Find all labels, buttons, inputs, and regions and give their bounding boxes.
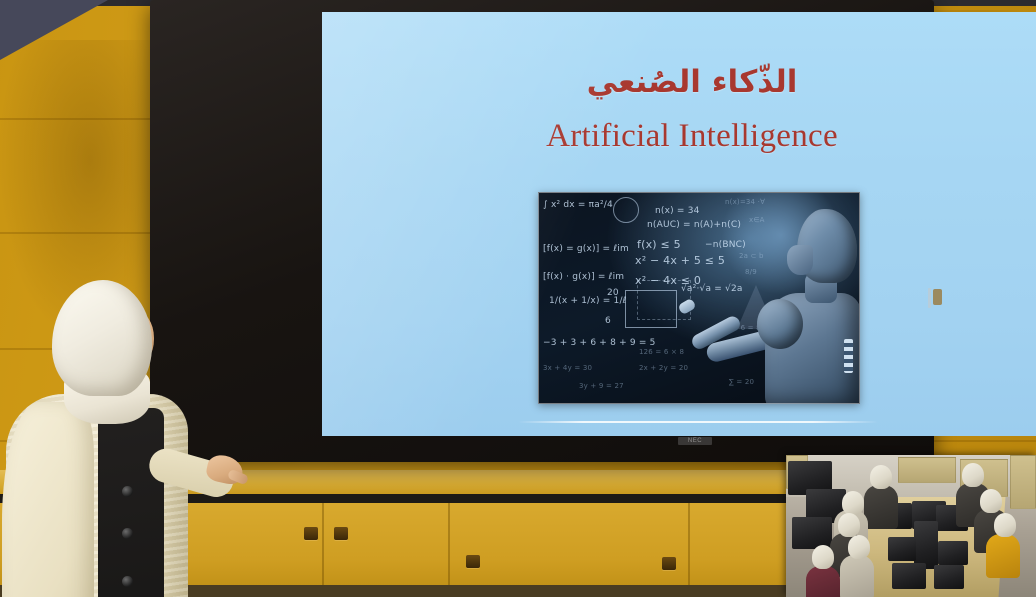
chalk-eq: 3x + 4y = 30 [543, 365, 592, 372]
chalk-eq: −3 + 3 + 6 + 8 + 9 = 5 [543, 339, 656, 348]
pip-monitor [934, 565, 964, 589]
garment-button [122, 576, 133, 587]
pip-attendee-head [842, 491, 864, 515]
presenter-shawl [2, 402, 94, 597]
pip-monitor [888, 537, 916, 561]
pip-attendee-head [812, 545, 834, 569]
presentation-slide: الذّكاء الصُنعي Artificial Intelligence … [322, 12, 1036, 436]
robot-back-panel [844, 339, 853, 373]
cabinet-seam [688, 503, 690, 597]
pip-monitor [938, 541, 968, 565]
cabinet-handle[interactable] [334, 527, 348, 540]
wall-display[interactable]: الذّكاء الصُنعي Artificial Intelligence … [150, 0, 934, 462]
chalk-eq: x² − 4x + 5 ≤ 5 [635, 255, 725, 267]
chalk-circle [613, 197, 639, 223]
cabinet-handle[interactable] [304, 527, 318, 540]
chalk-eq: 1/(x + 1/x) = 1/ℓ [549, 297, 627, 306]
robot-jaw [787, 245, 813, 275]
slide-title-arabic: الذّكاء الصُنعي [322, 64, 1036, 100]
pip-cabinet [898, 457, 956, 483]
pip-attendee-head [848, 535, 870, 559]
cabinet-seam [322, 503, 324, 597]
pip-cabinet [1010, 455, 1036, 509]
chalk-eq: 126 = 6 × 8 [639, 349, 684, 356]
display-screen: الذّكاء الصُنعي Artificial Intelligence … [322, 12, 1036, 436]
display-brand-label: NEC [678, 437, 712, 445]
garment-button [122, 528, 133, 539]
chalk-eq: 20 [607, 289, 619, 298]
pip-attendee-body [840, 555, 874, 597]
cabinet-seam [448, 503, 450, 597]
robot-figure [727, 192, 860, 404]
chalk-eq: x² − 4x ≤ 0 [635, 275, 701, 287]
presenter-hijab [52, 280, 152, 396]
chalk-eq: [f(x) = g(x)] = ℓim [543, 245, 629, 254]
pip-monitor [892, 563, 926, 589]
slide-title-english: Artificial Intelligence [322, 118, 1036, 155]
pip-attendee-head [994, 513, 1016, 537]
pip-monitor [914, 521, 938, 569]
presenter-inner-garment [98, 408, 164, 597]
chalk-eq: [f(x) · g(x)] = ℓim [543, 273, 624, 282]
display-side-knob[interactable] [933, 289, 942, 305]
video-frame: الذّكاء الصُنعي Artificial Intelligence … [0, 0, 1036, 597]
cabinet-handle[interactable] [662, 557, 676, 570]
pip-attendee-body [864, 485, 898, 529]
pip-attendee-body [986, 534, 1020, 578]
robot-hand [677, 298, 696, 316]
pip-attendee-body [806, 566, 840, 597]
robot-shoulder [757, 299, 803, 349]
slide-divider-line [518, 421, 878, 423]
chalk-eq: 6 [605, 317, 611, 326]
chalk-eq: ∫ x² dx = πa²/4 [543, 201, 613, 210]
cabinet-handle[interactable] [466, 555, 480, 568]
pip-attendee-head [838, 513, 860, 537]
pip-audience-feed[interactable] [786, 455, 1036, 597]
pip-monitor [792, 517, 832, 549]
chalk-eq: 2x + 2y = 20 [639, 365, 688, 372]
chalk-eq: f(x) ≤ 5 [637, 239, 681, 251]
display-side-indicator [928, 288, 931, 308]
garment-button [122, 486, 133, 497]
slide-image-robot-blackboard: ∫ x² dx = πa²/4 n(x) = 34 n(AUC) = n(A)+… [538, 192, 860, 404]
pip-attendee-head [962, 463, 984, 487]
chalk-cube [625, 290, 677, 328]
chalk-eq: n(x) = 34 [655, 207, 700, 216]
pip-attendee-head [980, 489, 1002, 513]
presenter [0, 276, 250, 597]
pip-attendee-head [870, 465, 892, 489]
